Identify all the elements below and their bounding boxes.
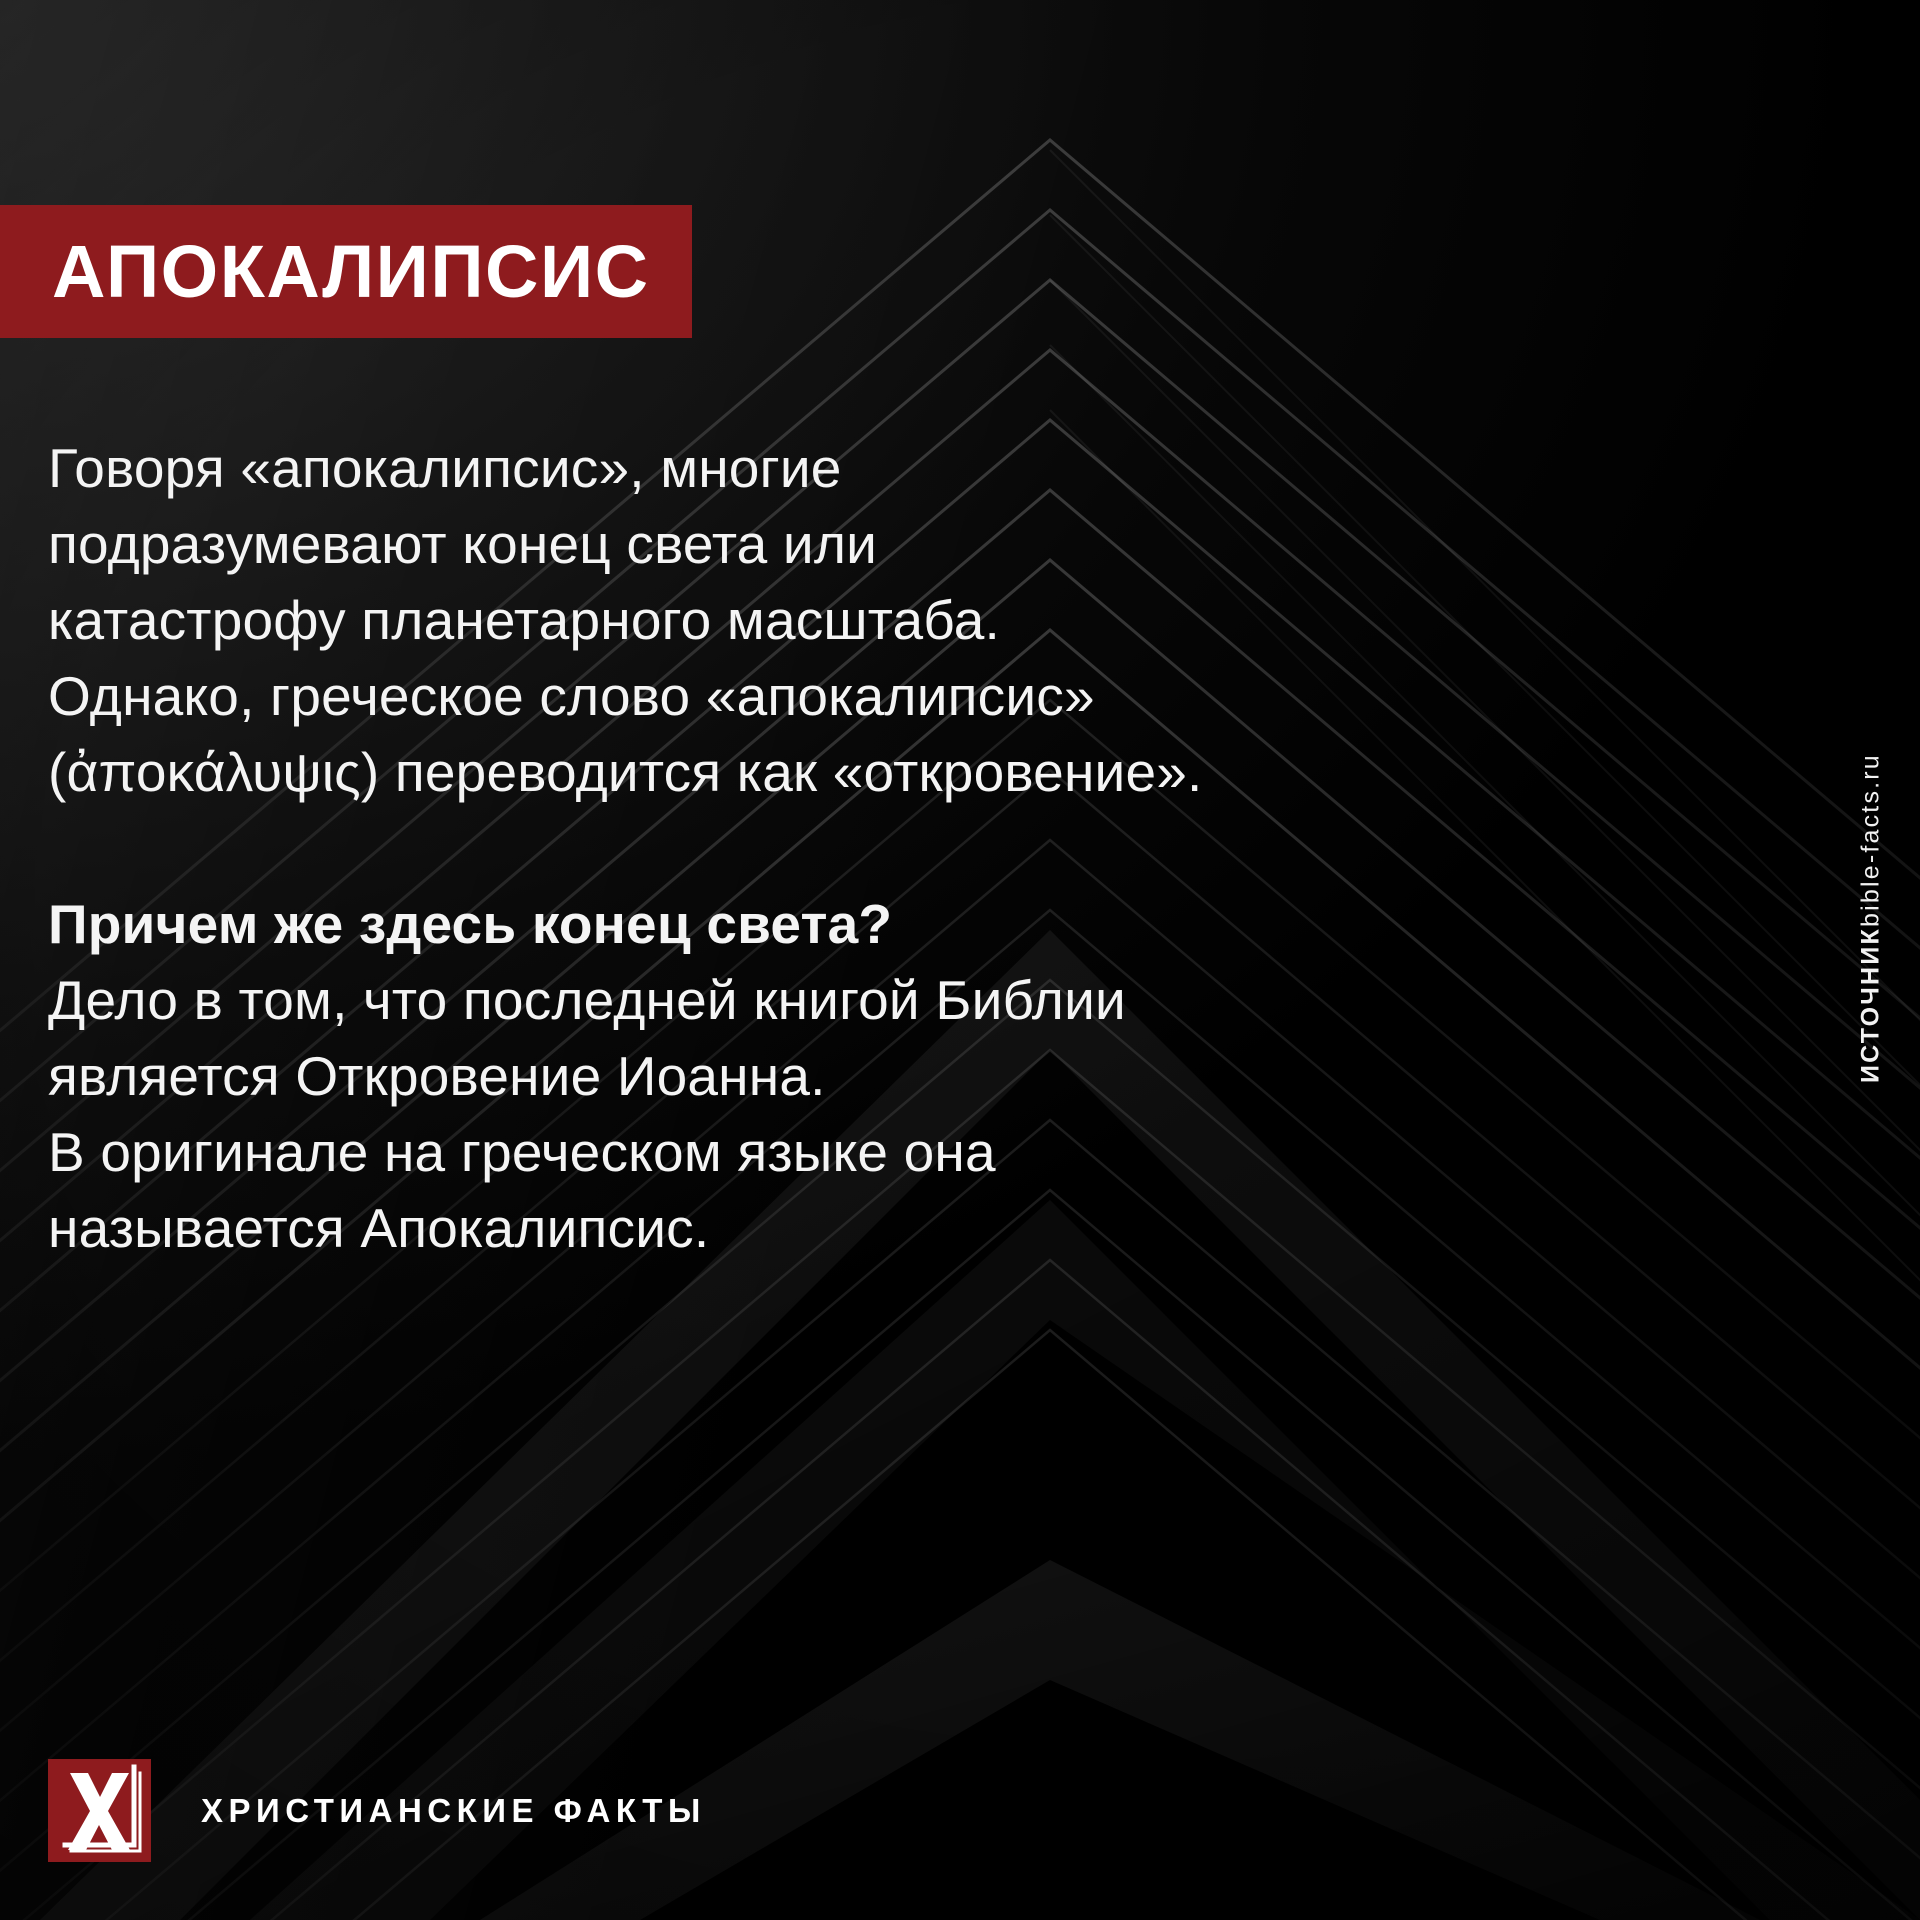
body-line-greek: (ἀποκάλυψις) переводится как «откровение…	[48, 734, 1788, 810]
body-line: подразумевают конец света или	[48, 506, 1788, 582]
body-line: Однако, греческое слово «апокалипсис»	[48, 658, 1788, 734]
body-line: называется Апокалипсис.	[48, 1190, 1788, 1266]
body-line: Дело в том, что последней книгой Библии	[48, 962, 1788, 1038]
title-banner: АПОКАЛИПСИС	[0, 205, 692, 338]
body-line: катастрофу планетарного масштаба.	[48, 582, 1788, 658]
source-url: bible-facts.ru	[1857, 753, 1886, 927]
body-line: является Откровение Иоанна.	[48, 1038, 1788, 1114]
brand-name: ХРИСТИАНСКИЕ ФАКТЫ	[201, 1792, 706, 1830]
paragraph-answer: Причем же здесь конец света? Дело в том,…	[48, 886, 1788, 1266]
source-label: ИСТОЧНИК	[1857, 927, 1886, 1083]
body-question: Причем же здесь конец света?	[48, 886, 1788, 962]
paragraph-intro: Говоря «апокалипсис», многие подразумева…	[48, 430, 1788, 810]
page-title: АПОКАЛИПСИС	[52, 235, 650, 309]
source-attribution: ИСТОЧНИК bible-facts.ru	[1848, 638, 1894, 1198]
footer: ХРИСТИАНСКИЕ ФАКТЫ	[48, 1759, 706, 1862]
infographic-card: АПОКАЛИПСИС Говоря «апокалипсис», многие…	[0, 0, 1920, 1920]
paragraph-spacer	[48, 810, 1788, 886]
body-copy: Говоря «апокалипсис», многие подразумева…	[48, 430, 1788, 1266]
body-line: В оригинале на греческом языке она	[48, 1114, 1788, 1190]
body-line: Говоря «апокалипсис», многие	[48, 430, 1788, 506]
brand-logo-icon	[48, 1759, 151, 1862]
